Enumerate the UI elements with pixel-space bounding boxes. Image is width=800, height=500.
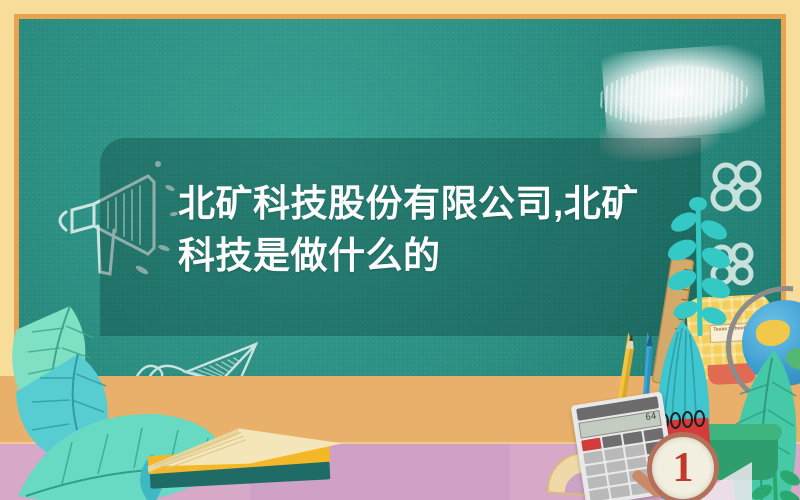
calculator-key xyxy=(623,431,643,445)
calculator-key xyxy=(625,444,645,458)
spiral-ring-5 xyxy=(694,410,705,427)
pencil-cup-rim xyxy=(702,424,782,440)
calculator-key xyxy=(608,472,628,486)
calculator-key xyxy=(610,485,630,499)
calculator-key xyxy=(581,438,601,452)
calculator-key xyxy=(585,463,605,477)
calculator-key xyxy=(606,460,626,474)
calculator-key xyxy=(602,434,622,448)
calculator-display-value: 64 xyxy=(645,412,657,424)
calculator-key xyxy=(587,476,607,490)
spiral-ring-3 xyxy=(670,412,681,429)
calculator-key xyxy=(583,450,603,464)
fern-leaf-right xyxy=(664,196,734,336)
cover-image: 北矿科技股份有限公司,北矿科技是做什么的 xyxy=(0,0,800,500)
calculator-key xyxy=(627,456,647,470)
calculator-key xyxy=(589,488,609,500)
spiral-ring-4 xyxy=(682,411,693,428)
calculator-key xyxy=(604,447,624,461)
page-title: 北矿科技股份有限公司,北矿科技是做什么的 xyxy=(178,178,648,282)
magnifier-number: 1 xyxy=(652,437,714,499)
magnifier: 1 xyxy=(647,432,719,500)
globe-landmass-1 xyxy=(756,320,790,346)
